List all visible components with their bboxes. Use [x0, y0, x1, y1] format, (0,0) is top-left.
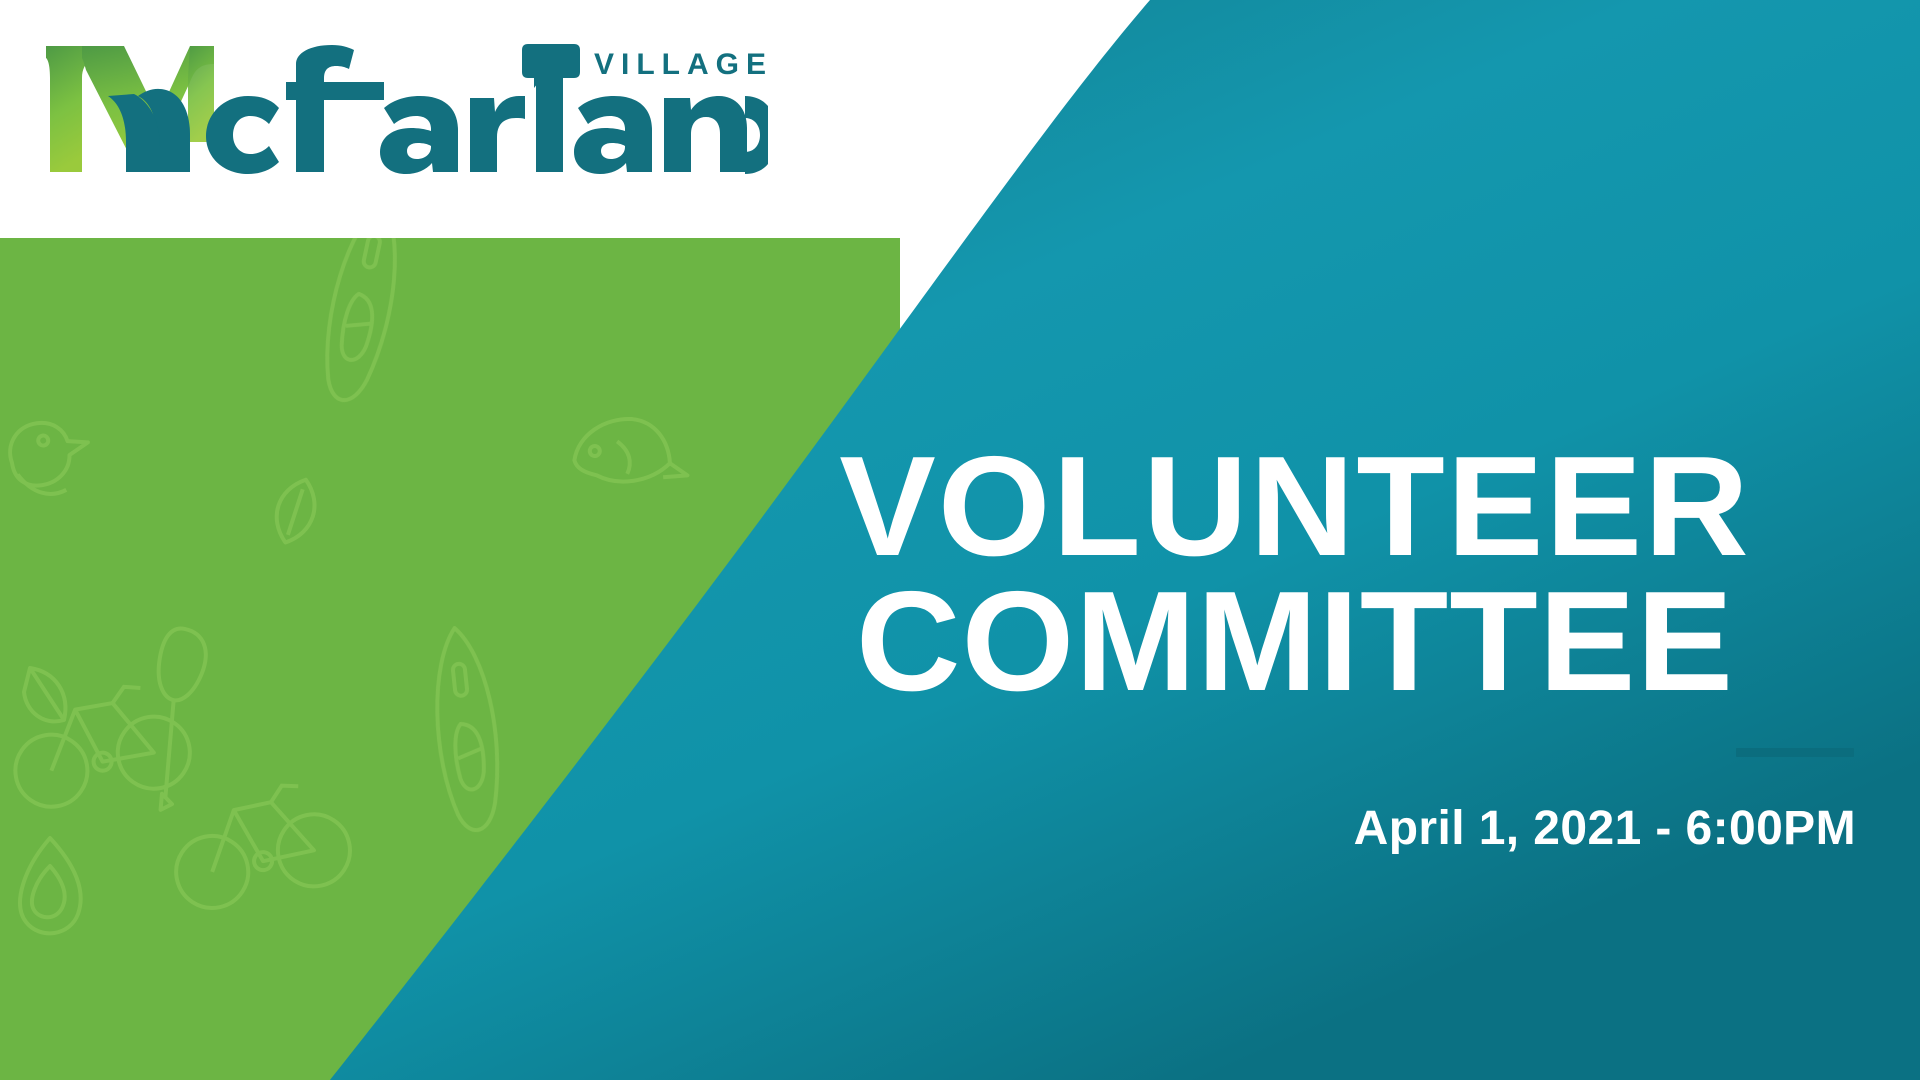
event-title: VOLUNTEER COMMITTEE [719, 440, 1872, 710]
event-datetime: April 1, 2021 - 6:00PM [730, 801, 1856, 856]
main-content: VOLUNTEER COMMITTEE April 1, 2021 - 6:00… [730, 440, 1860, 856]
title-divider [1736, 748, 1854, 757]
village-logo[interactable]: VILLAGE OF [38, 34, 768, 184]
event-title-line-2: COMMITTEE [719, 575, 1872, 710]
event-title-line-1: VOLUNTEER [719, 440, 1872, 575]
slide-canvas: VILLAGE OF VOLUNTEER COMMITTEE April 1, … [0, 0, 1920, 1080]
logo-tagline-text: VILLAGE OF [594, 48, 768, 81]
